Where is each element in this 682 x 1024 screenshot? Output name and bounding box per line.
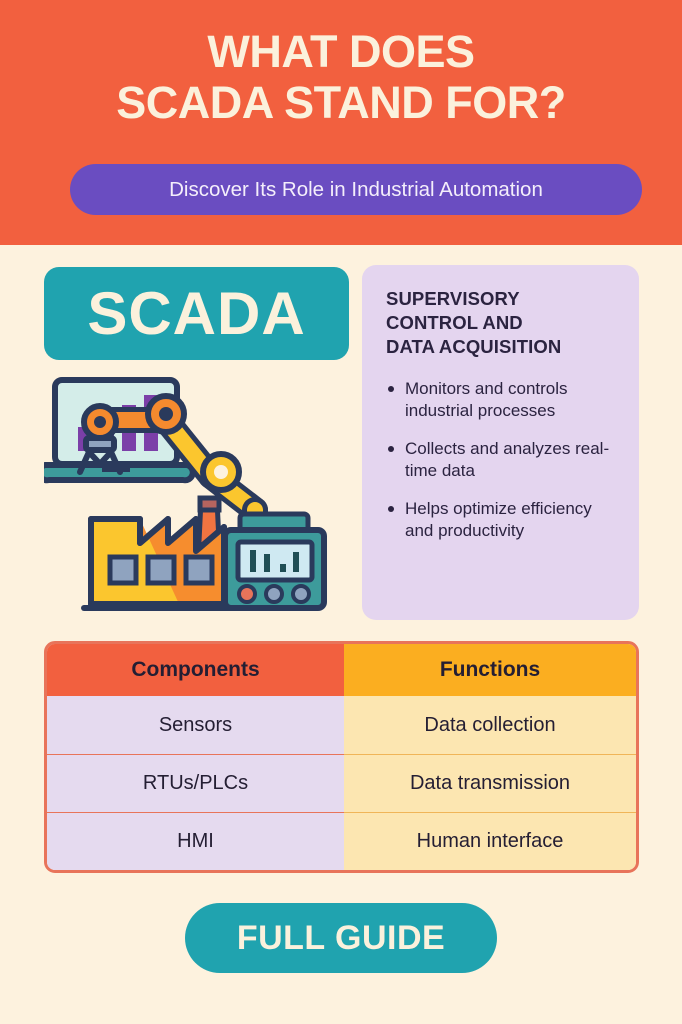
column-header-functions: Functions <box>344 644 636 696</box>
bullet-dot-icon <box>388 506 394 512</box>
title-line-2: SCADA STAND FOR? <box>0 77 682 128</box>
scada-badge-label: SCADA <box>87 284 305 344</box>
list-item-text: Helps optimize efficiency and productivi… <box>405 499 592 540</box>
scada-acronym-badge: SCADA <box>44 267 349 360</box>
illustration-svg <box>44 372 356 620</box>
table-row: RTUs/PLCs Data transmission <box>47 754 636 812</box>
components-functions-table: Components Functions Sensors Data collec… <box>44 641 639 873</box>
table-header-row: Components Functions <box>47 644 636 696</box>
bullet-dot-icon <box>388 446 394 452</box>
table-row: HMI Human interface <box>47 812 636 870</box>
list-item-text: Collects and analyzes real-time data <box>405 439 609 480</box>
list-item: Monitors and controls industrial process… <box>386 378 619 421</box>
column-header-components: Components <box>47 644 344 696</box>
list-item: Helps optimize efficiency and productivi… <box>386 498 619 541</box>
definition-panel: SUPERVISORY CONTROL AND DATA ACQUISITION… <box>362 265 639 620</box>
page-title: WHAT DOES SCADA STAND FOR? <box>0 26 682 128</box>
definition-heading-line-3: DATA ACQUISITION <box>386 335 619 359</box>
definition-heading: SUPERVISORY CONTROL AND DATA ACQUISITION <box>386 287 619 359</box>
definition-heading-line-1: SUPERVISORY <box>386 287 619 311</box>
factory-icon <box>84 519 240 608</box>
cell-component: HMI <box>47 812 344 870</box>
cell-function: Data collection <box>344 696 636 754</box>
subtitle-text: Discover Its Role in Industrial Automati… <box>169 178 543 202</box>
definition-bullet-list: Monitors and controls industrial process… <box>386 378 619 541</box>
full-guide-button-label: FULL GUIDE <box>237 919 445 958</box>
subtitle-pill: Discover Its Role in Industrial Automati… <box>70 164 642 215</box>
definition-heading-line-2: CONTROL AND <box>386 311 619 335</box>
hmi-control-panel-icon <box>225 514 324 608</box>
table-row: Sensors Data collection <box>47 696 636 754</box>
title-line-1: WHAT DOES <box>0 26 682 77</box>
header-banner: WHAT DOES SCADA STAND FOR? Discover Its … <box>0 0 682 245</box>
industrial-automation-illustration <box>44 372 356 620</box>
list-item-text: Monitors and controls industrial process… <box>405 379 568 420</box>
infographic-poster: WHAT DOES SCADA STAND FOR? Discover Its … <box>0 0 682 1024</box>
cell-component: RTUs/PLCs <box>47 754 344 812</box>
cell-function: Human interface <box>344 812 636 870</box>
cell-function: Data transmission <box>344 754 636 812</box>
cell-component: Sensors <box>47 696 344 754</box>
bullet-dot-icon <box>388 386 394 392</box>
full-guide-button[interactable]: FULL GUIDE <box>185 903 497 973</box>
list-item: Collects and analyzes real-time data <box>386 438 619 481</box>
